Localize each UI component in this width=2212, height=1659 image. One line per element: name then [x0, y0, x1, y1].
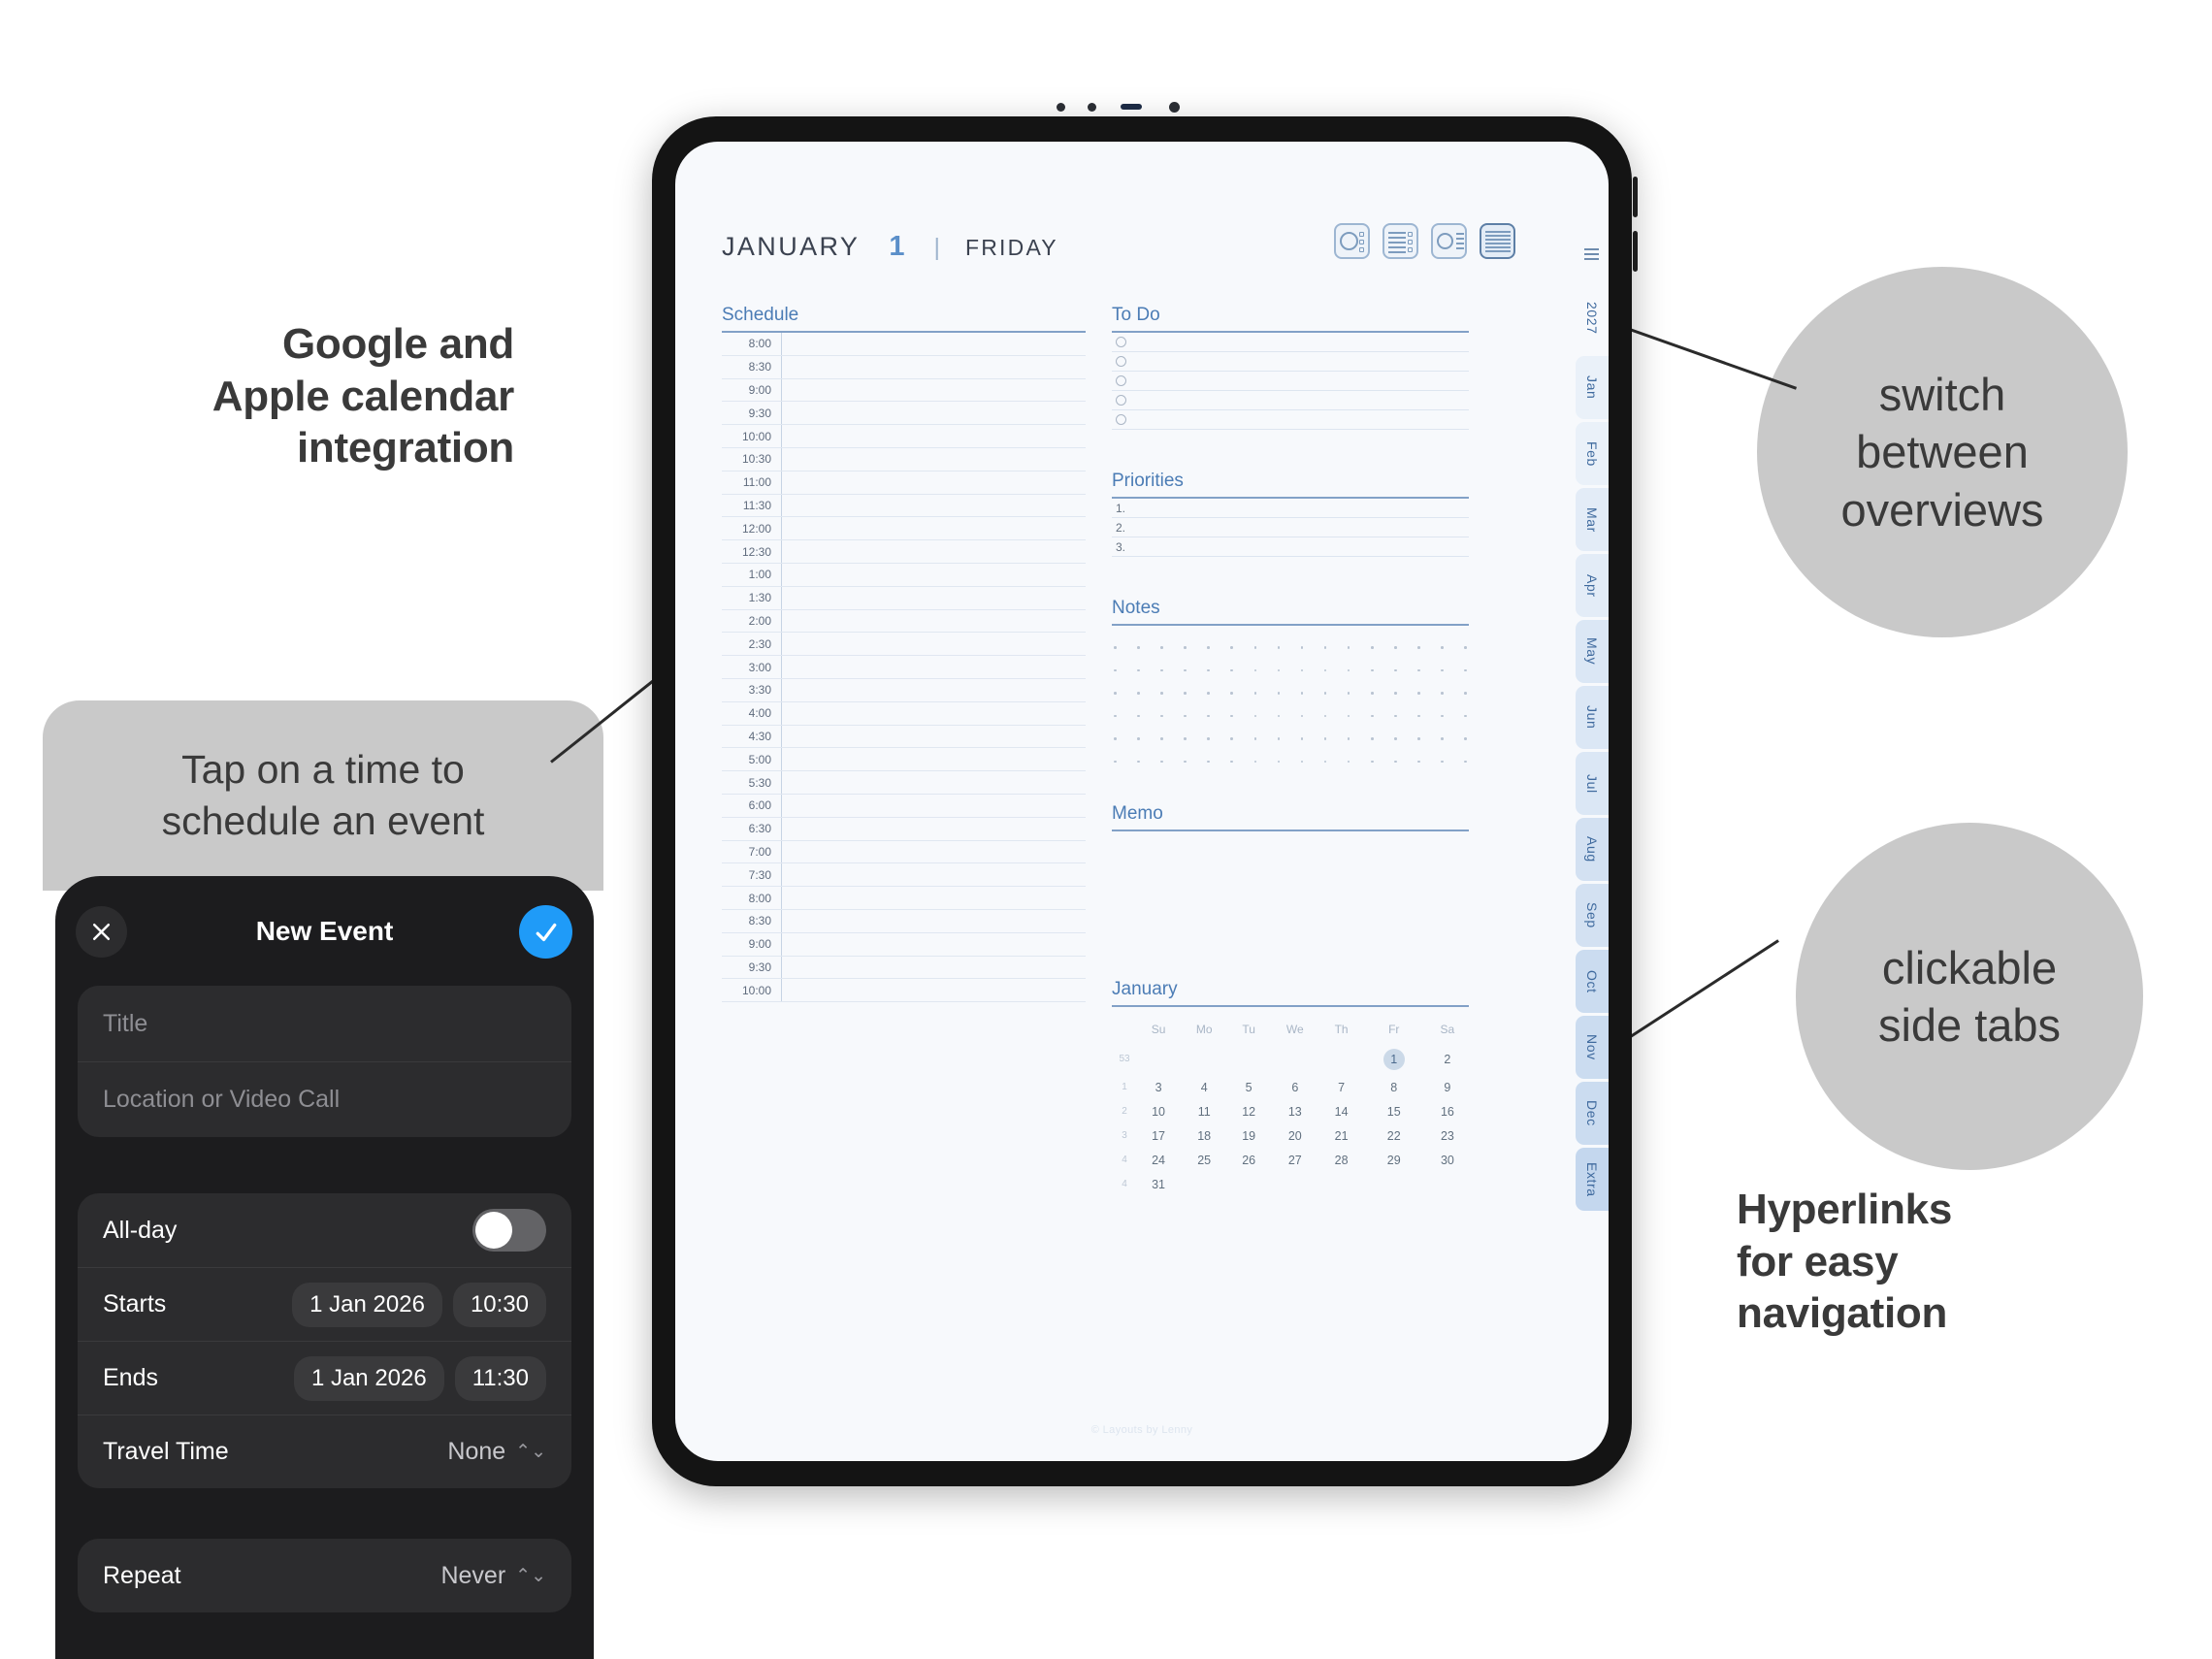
notes-dot-row: [1112, 761, 1469, 764]
volume-button-down[interactable]: [1633, 231, 1638, 272]
schedule-row[interactable]: 10:30: [722, 448, 1086, 472]
schedule-entry-slot[interactable]: [782, 472, 1086, 494]
notes-dot: [1394, 715, 1397, 718]
schedule-row[interactable]: 8:00: [722, 333, 1086, 356]
todo-row[interactable]: [1112, 410, 1469, 430]
schedule-entry-slot[interactable]: [782, 564, 1086, 586]
side-tab-nov[interactable]: Nov: [1576, 1016, 1609, 1079]
schedule-entry-slot[interactable]: [782, 540, 1086, 563]
side-tab-oct[interactable]: Oct: [1576, 950, 1609, 1013]
schedule-time-label: 6:30: [722, 818, 782, 840]
allday-toggle[interactable]: [472, 1209, 546, 1252]
list-view-icon[interactable]: [1382, 223, 1418, 259]
notes-dot: [1137, 646, 1140, 649]
schedule-time-label: 2:00: [722, 610, 782, 633]
side-tab-label: Jul: [1584, 774, 1600, 794]
allday-label: All-day: [103, 1217, 177, 1245]
todo-rule: [1112, 331, 1469, 333]
location-field-row[interactable]: Location or Video Call: [78, 1061, 571, 1137]
mini-calendar-day[interactable]: 25: [1180, 1148, 1228, 1172]
notes-dot: [1230, 715, 1233, 718]
notes-dot: [1114, 669, 1117, 672]
notes-dot: [1254, 737, 1257, 740]
notes-dot: [1114, 715, 1117, 718]
memo-rule: [1112, 829, 1469, 831]
mini-calendar-day[interactable]: 18: [1180, 1123, 1228, 1148]
close-icon[interactable]: [76, 906, 127, 958]
mini-calendar-day[interactable]: 26: [1228, 1148, 1269, 1172]
schedule-row[interactable]: 6:30: [722, 818, 1086, 841]
allday-toggle-knob: [475, 1212, 512, 1249]
notes-dot: [1301, 737, 1304, 740]
notes-dot: [1441, 737, 1444, 740]
mini-calendar-day[interactable]: 28: [1321, 1148, 1362, 1172]
mini-calendar-day[interactable]: 27: [1269, 1148, 1321, 1172]
side-tab-label: Aug: [1584, 836, 1600, 862]
notes-dot: [1348, 761, 1350, 764]
mini-calendar-day[interactable]: 8: [1362, 1075, 1426, 1099]
mini-calendar-today[interactable]: 1: [1383, 1049, 1405, 1070]
notes-dot: [1394, 692, 1397, 695]
todo-row[interactable]: [1112, 333, 1469, 352]
schedule-entry-slot[interactable]: [782, 748, 1086, 770]
todo-rows[interactable]: [1112, 333, 1469, 430]
headline-right: Hyperlinks for easy navigation: [1737, 1184, 2193, 1340]
mini-calendar-day[interactable]: 7: [1321, 1075, 1362, 1099]
notes-dot: [1394, 737, 1397, 740]
schedule-row[interactable]: 2:00: [722, 610, 1086, 634]
schedule-row[interactable]: 9:00: [722, 379, 1086, 403]
allday-row[interactable]: All-day: [78, 1193, 571, 1267]
side-tab-apr[interactable]: Apr: [1576, 554, 1609, 617]
schedule-row[interactable]: 7:00: [722, 841, 1086, 864]
notes-dot: [1184, 761, 1187, 764]
notes-dot: [1207, 646, 1210, 649]
notes-dot: [1278, 692, 1281, 695]
side-tab-label: Jan: [1584, 375, 1600, 399]
schedule-entry-slot[interactable]: [782, 979, 1086, 1001]
schedule-row[interactable]: 1:30: [722, 587, 1086, 610]
todo-row[interactable]: [1112, 372, 1469, 391]
schedule-row[interactable]: 4:30: [722, 726, 1086, 749]
mini-calendar-day[interactable]: 22: [1362, 1123, 1426, 1148]
ends-time-pill[interactable]: 11:30: [455, 1356, 546, 1401]
schedule-entry-slot[interactable]: [782, 795, 1086, 817]
starts-row[interactable]: Starts 1 Jan 2026 10:30: [78, 1267, 571, 1341]
notes-dot-row: [1112, 715, 1469, 718]
mini-calendar-day[interactable]: 11: [1180, 1099, 1228, 1123]
circle-switch-line2: between: [1856, 426, 2029, 477]
memo-area[interactable]: [1112, 831, 1469, 958]
menu-icon[interactable]: [1584, 248, 1599, 263]
schedule-time-label: 5:00: [722, 748, 782, 770]
travel-time-label: Travel Time: [103, 1438, 229, 1466]
starts-time-pill[interactable]: 10:30: [453, 1283, 546, 1327]
schedule-time-label: 4:00: [722, 702, 782, 725]
mini-week-number[interactable]: 1: [1112, 1075, 1137, 1099]
mini-week-number[interactable]: 2: [1112, 1099, 1137, 1123]
notes-dot: [1301, 646, 1304, 649]
mini-calendar-day[interactable]: 10: [1137, 1099, 1180, 1123]
schedule-row[interactable]: 2:30: [722, 633, 1086, 656]
side-tab-label: Feb: [1584, 441, 1600, 467]
notes-dot: [1324, 761, 1327, 764]
schedule-entry-slot[interactable]: [782, 863, 1086, 886]
notes-dot: [1371, 692, 1374, 695]
todo-row[interactable]: [1112, 391, 1469, 410]
notes-dot: [1417, 761, 1420, 764]
mini-calendar-day[interactable]: 16: [1426, 1099, 1469, 1123]
event-text-fields: Title Location or Video Call: [78, 986, 571, 1137]
notes-dot: [1114, 737, 1117, 740]
travel-time-row[interactable]: Travel Time None ⌃⌄: [78, 1415, 571, 1488]
mini-calendar-day[interactable]: 21: [1321, 1123, 1362, 1148]
notes-dot: [1394, 669, 1397, 672]
mini-calendar-day[interactable]: 17: [1137, 1123, 1180, 1148]
schedule-rows[interactable]: 8:008:309:009:3010:0010:3011:0011:3012:0…: [722, 333, 1086, 1002]
schedule-entry-slot[interactable]: [782, 841, 1086, 863]
schedule-row[interactable]: 9:30: [722, 402, 1086, 425]
schedule-entry-slot[interactable]: [782, 702, 1086, 725]
notes-dot: [1324, 692, 1327, 695]
schedule-time-label: 4:30: [722, 726, 782, 748]
new-event-title: New Event: [256, 916, 394, 947]
schedule-time-label: 6:00: [722, 795, 782, 817]
notes-dot: [1324, 669, 1327, 672]
priority-row[interactable]: 2.: [1112, 518, 1469, 537]
schedule-row[interactable]: 5:30: [722, 771, 1086, 795]
side-tab-mar[interactable]: Mar: [1576, 488, 1609, 551]
starts-date-pill[interactable]: 1 Jan 2026: [292, 1283, 442, 1327]
chevron-updown-icon-2: ⌃⌄: [515, 1565, 546, 1587]
notes-dot: [1371, 715, 1374, 718]
notes-dot: [1160, 692, 1163, 695]
schedule-row[interactable]: 4:00: [722, 702, 1086, 726]
notes-dot: [1441, 761, 1444, 764]
schedule-row[interactable]: 11:00: [722, 472, 1086, 495]
notes-dot: [1207, 692, 1210, 695]
mini-calendar-day[interactable]: 9: [1426, 1075, 1469, 1099]
schedule-time-label: 3:30: [722, 679, 782, 701]
schedule-row[interactable]: 3:30: [722, 679, 1086, 702]
mini-calendar-day[interactable]: 1: [1362, 1043, 1426, 1075]
mini-calendar-day: [1362, 1172, 1426, 1196]
schedule-entry-slot[interactable]: [782, 356, 1086, 378]
schedule-entry-slot[interactable]: [782, 587, 1086, 609]
side-tab-sep[interactable]: Sep: [1576, 884, 1609, 947]
mini-calendar-day[interactable]: 29: [1362, 1148, 1426, 1172]
priorities-rule: [1112, 497, 1469, 499]
mini-week-number[interactable]: 53: [1112, 1043, 1137, 1075]
schedule-time-label: 9:00: [722, 933, 782, 956]
schedule-time-label: 11:00: [722, 472, 782, 494]
side-tab-feb[interactable]: Feb: [1576, 422, 1609, 485]
notes-dot: [1160, 761, 1163, 764]
schedule-row[interactable]: 9:00: [722, 933, 1086, 957]
notes-dot: [1371, 761, 1374, 764]
notes-dot: [1184, 715, 1187, 718]
schedule-entry-slot[interactable]: [782, 887, 1086, 909]
schedule-entry-slot[interactable]: [782, 910, 1086, 932]
schedule-time-label: 9:00: [722, 379, 782, 402]
schedule-entry-slot[interactable]: [782, 656, 1086, 678]
side-tab-aug[interactable]: Aug: [1576, 818, 1609, 881]
mini-calendar-day[interactable]: 30: [1426, 1148, 1469, 1172]
notes-dot: [1441, 715, 1444, 718]
schedule-row[interactable]: 12:30: [722, 540, 1086, 564]
side-tab-dec[interactable]: Dec: [1576, 1082, 1609, 1145]
mini-week-number[interactable]: 4: [1112, 1172, 1137, 1196]
mini-week-number[interactable]: 4: [1112, 1148, 1137, 1172]
side-tab-label: Jun: [1584, 705, 1600, 729]
schedule-rule: [722, 331, 1086, 333]
notes-dot: [1348, 646, 1350, 649]
notes-dot: [1278, 737, 1281, 740]
ends-label: Ends: [103, 1364, 158, 1392]
tablet-device: JANUARY 1 | FRIDAY: [652, 116, 1632, 1486]
schedule-time-label: 9:30: [722, 957, 782, 979]
schedule-entry-slot[interactable]: [782, 679, 1086, 701]
side-tab-label: Apr: [1584, 574, 1600, 598]
view-mode-toolbar: [1334, 223, 1515, 259]
schedule-row[interactable]: 11:30: [722, 495, 1086, 518]
mini-weekday-header: Sa: [1426, 1017, 1469, 1043]
schedule-row[interactable]: 6:00: [722, 795, 1086, 818]
headline-right-line1: Hyperlinks: [1737, 1184, 2193, 1236]
mini-calendar-day[interactable]: 6: [1269, 1075, 1321, 1099]
priority-row[interactable]: 1.: [1112, 499, 1469, 518]
schedule-row[interactable]: 5:00: [722, 748, 1086, 771]
mini-calendar-day: [1321, 1043, 1362, 1075]
notes-dot: [1278, 669, 1281, 672]
mini-calendar-week: 317181920212223: [1112, 1123, 1469, 1148]
mini-calendar-day[interactable]: 31: [1137, 1172, 1180, 1196]
camera-dot-4: [1169, 102, 1180, 113]
notes-dot: [1348, 669, 1350, 672]
mini-calendar-day[interactable]: 19: [1228, 1123, 1269, 1148]
notes-dot: [1417, 715, 1420, 718]
todo-checkbox[interactable]: [1116, 375, 1126, 386]
mini-calendar-day[interactable]: 2: [1426, 1043, 1469, 1075]
schedule-entry-slot[interactable]: [782, 495, 1086, 517]
schedule-row[interactable]: 8:30: [722, 910, 1086, 933]
mini-calendar-header-row: SuMoTuWeThFrSa: [1112, 1017, 1469, 1043]
mini-calendar-body[interactable]: 5312134567892101112131415163171819202122…: [1112, 1043, 1469, 1196]
notes-dot: [1184, 737, 1187, 740]
schedule-time-label: 8:00: [722, 887, 782, 909]
new-event-sheet: New Event Title Location or Video Call A…: [55, 876, 594, 1659]
notes-dot: [1324, 715, 1327, 718]
schedule-row[interactable]: 9:30: [722, 957, 1086, 980]
schedule-row[interactable]: 7:30: [722, 863, 1086, 887]
mini-calendar-rule: [1112, 1005, 1469, 1007]
schedule-entry-slot[interactable]: [782, 333, 1086, 355]
headline-left-line2: Apple calendar: [97, 371, 514, 423]
side-tab-may[interactable]: May: [1576, 620, 1609, 683]
mini-calendar-day[interactable]: 5: [1228, 1075, 1269, 1099]
right-column: To Do Priorities 1.2.3. Notes Memo: [1112, 305, 1469, 1196]
schedule-entry-slot[interactable]: [782, 771, 1086, 794]
todo-checkbox[interactable]: [1116, 337, 1126, 347]
todo-checkbox[interactable]: [1116, 356, 1126, 367]
done-icon[interactable]: [519, 905, 572, 959]
event-time-card: All-day Starts 1 Jan 2026 10:30 Ends 1 J…: [78, 1193, 571, 1488]
notes-dot: [1207, 761, 1210, 764]
notes-dot: [1441, 669, 1444, 672]
schedule-time-label: 7:00: [722, 841, 782, 863]
mini-calendar-title: January: [1112, 979, 1469, 1005]
circle-tabs-line1: clickable: [1882, 942, 2057, 993]
notes-dot: [1160, 646, 1163, 649]
header-day-number: 1: [889, 231, 904, 263]
lines-view-icon[interactable]: [1480, 223, 1515, 259]
schedule-row[interactable]: 10:00: [722, 425, 1086, 448]
priorities-title: Priorities: [1112, 471, 1469, 497]
side-tab-jul[interactable]: Jul: [1576, 752, 1609, 815]
notes-dot: [1207, 669, 1210, 672]
notes-dot-row: [1112, 737, 1469, 740]
notes-dot: [1160, 715, 1163, 718]
mini-calendar[interactable]: SuMoTuWeThFrSa 5312134567892101112131415…: [1112, 1017, 1469, 1196]
schedule-time-label: 3:00: [722, 656, 782, 678]
circle-switch-line3: overviews: [1841, 484, 2044, 536]
schedule-entry-slot[interactable]: [782, 448, 1086, 471]
side-tabs[interactable]: 2027JanFebMarAprMayJunJulAugSepOctNovDec…: [1576, 283, 1609, 1214]
todo-row[interactable]: [1112, 352, 1469, 372]
notes-dot: [1348, 692, 1350, 695]
notes-dot: [1417, 669, 1420, 672]
side-tab-jan[interactable]: Jan: [1576, 356, 1609, 419]
schedule-row[interactable]: 10:00: [722, 979, 1086, 1002]
notes-dot: [1137, 761, 1140, 764]
mini-calendar-day: [1321, 1172, 1362, 1196]
side-tab-jun[interactable]: Jun: [1576, 686, 1609, 749]
mini-calendar-day[interactable]: 12: [1228, 1099, 1269, 1123]
schedule-time-label: 1:00: [722, 564, 782, 586]
schedule-entry-slot[interactable]: [782, 957, 1086, 979]
mini-calendar-day[interactable]: 20: [1269, 1123, 1321, 1148]
priority-row[interactable]: 3.: [1112, 537, 1469, 557]
todo-checkbox[interactable]: [1116, 395, 1126, 406]
ends-row[interactable]: Ends 1 Jan 2026 11:30: [78, 1341, 571, 1415]
mini-calendar-day[interactable]: 23: [1426, 1123, 1469, 1148]
schedule-entry-slot[interactable]: [782, 379, 1086, 402]
notes-title: Notes: [1112, 598, 1469, 624]
schedule-entry-slot[interactable]: [782, 425, 1086, 447]
headline-left-line1: Google and: [97, 318, 514, 371]
notes-dot: [1417, 692, 1420, 695]
page-date-header: JANUARY 1 | FRIDAY: [722, 231, 1058, 263]
notes-dot: [1254, 692, 1257, 695]
headline-right-line3: navigation: [1737, 1287, 2193, 1340]
notes-dot: [1301, 669, 1304, 672]
schedule-entry-slot[interactable]: [782, 726, 1086, 748]
notes-dot: [1230, 692, 1233, 695]
notes-dot: [1324, 737, 1327, 740]
schedule-row[interactable]: 8:00: [722, 887, 1086, 910]
mini-week-number[interactable]: 3: [1112, 1123, 1137, 1148]
mini-calendar-day: [1228, 1172, 1269, 1196]
notes-dot: [1348, 737, 1350, 740]
schedule-title: Schedule: [722, 305, 1086, 331]
schedule-entry-slot[interactable]: [782, 818, 1086, 840]
side-tab-extra[interactable]: Extra: [1576, 1148, 1609, 1211]
title-field-row[interactable]: Title: [78, 986, 571, 1061]
mini-calendar-day[interactable]: 24: [1137, 1148, 1180, 1172]
notes-dot: [1230, 737, 1233, 740]
schedule-time-label: 8:30: [722, 356, 782, 378]
notes-dot: [1464, 715, 1467, 718]
schedule-time-label: 10:30: [722, 448, 782, 471]
mini-calendar-day: [1137, 1043, 1180, 1075]
ends-date-pill[interactable]: 1 Jan 2026: [294, 1356, 444, 1401]
side-tab-2027[interactable]: 2027: [1576, 283, 1609, 353]
notes-dot: [1114, 692, 1117, 695]
notes-dot-row: [1112, 669, 1469, 672]
starts-label: Starts: [103, 1290, 166, 1318]
side-tab-label: Extra: [1584, 1162, 1600, 1197]
chevron-updown-icon: ⌃⌄: [515, 1441, 546, 1463]
repeat-row[interactable]: Repeat Never ⌃⌄: [78, 1539, 571, 1612]
notes-dot: [1394, 646, 1397, 649]
priority-number: 3.: [1112, 540, 1125, 554]
schedule-entry-slot[interactable]: [782, 633, 1086, 655]
schedule-time-label: 1:30: [722, 587, 782, 609]
schedule-row[interactable]: 3:00: [722, 656, 1086, 679]
callout-tap-to-schedule: Tap on a time to schedule an event: [43, 700, 603, 891]
schedule-row[interactable]: 8:30: [722, 356, 1086, 379]
notes-dot: [1417, 646, 1420, 649]
schedule-entry-slot[interactable]: [782, 517, 1086, 539]
priority-rows[interactable]: 1.2.3.: [1112, 499, 1469, 557]
notes-dot-row: [1112, 692, 1469, 695]
mini-calendar-day[interactable]: 4: [1180, 1075, 1228, 1099]
notes-dot: [1230, 761, 1233, 764]
notes-dot-grid[interactable]: [1112, 646, 1469, 792]
clock-detail-view-icon[interactable]: [1431, 223, 1467, 259]
mini-calendar-day: [1180, 1172, 1228, 1196]
circle-switch-line1: switch: [1879, 369, 2006, 420]
schedule-time-label: 10:00: [722, 425, 782, 447]
repeat-label: Repeat: [103, 1562, 181, 1590]
notes-dot: [1441, 692, 1444, 695]
camera-dot-2: [1088, 103, 1096, 112]
title-field-placeholder: Title: [103, 1010, 147, 1038]
mini-calendar-day[interactable]: 14: [1321, 1099, 1362, 1123]
schedule-time-label: 2:30: [722, 633, 782, 655]
side-tab-label: Oct: [1584, 970, 1600, 993]
schedule-row[interactable]: 1:00: [722, 564, 1086, 587]
mini-calendar-day[interactable]: 13: [1269, 1099, 1321, 1123]
schedule-entry-slot[interactable]: [782, 402, 1086, 424]
notes-dot: [1371, 646, 1374, 649]
notes-dot: [1160, 737, 1163, 740]
mini-calendar-day[interactable]: 3: [1137, 1075, 1180, 1099]
schedule-entry-slot[interactable]: [782, 610, 1086, 633]
notes-dot: [1464, 646, 1467, 649]
notes-dot: [1184, 646, 1187, 649]
volume-button-up[interactable]: [1633, 177, 1638, 217]
schedule-entry-slot[interactable]: [782, 933, 1086, 956]
clock-list-view-icon[interactable]: [1334, 223, 1370, 259]
callout-tap-line1: Tap on a time to: [181, 747, 465, 792]
notes-dot: [1464, 669, 1467, 672]
todo-checkbox[interactable]: [1116, 414, 1126, 425]
schedule-row[interactable]: 12:00: [722, 517, 1086, 540]
mini-calendar-week: 424252627282930: [1112, 1148, 1469, 1172]
notes-dot: [1417, 737, 1420, 740]
mini-calendar-day[interactable]: 15: [1362, 1099, 1426, 1123]
